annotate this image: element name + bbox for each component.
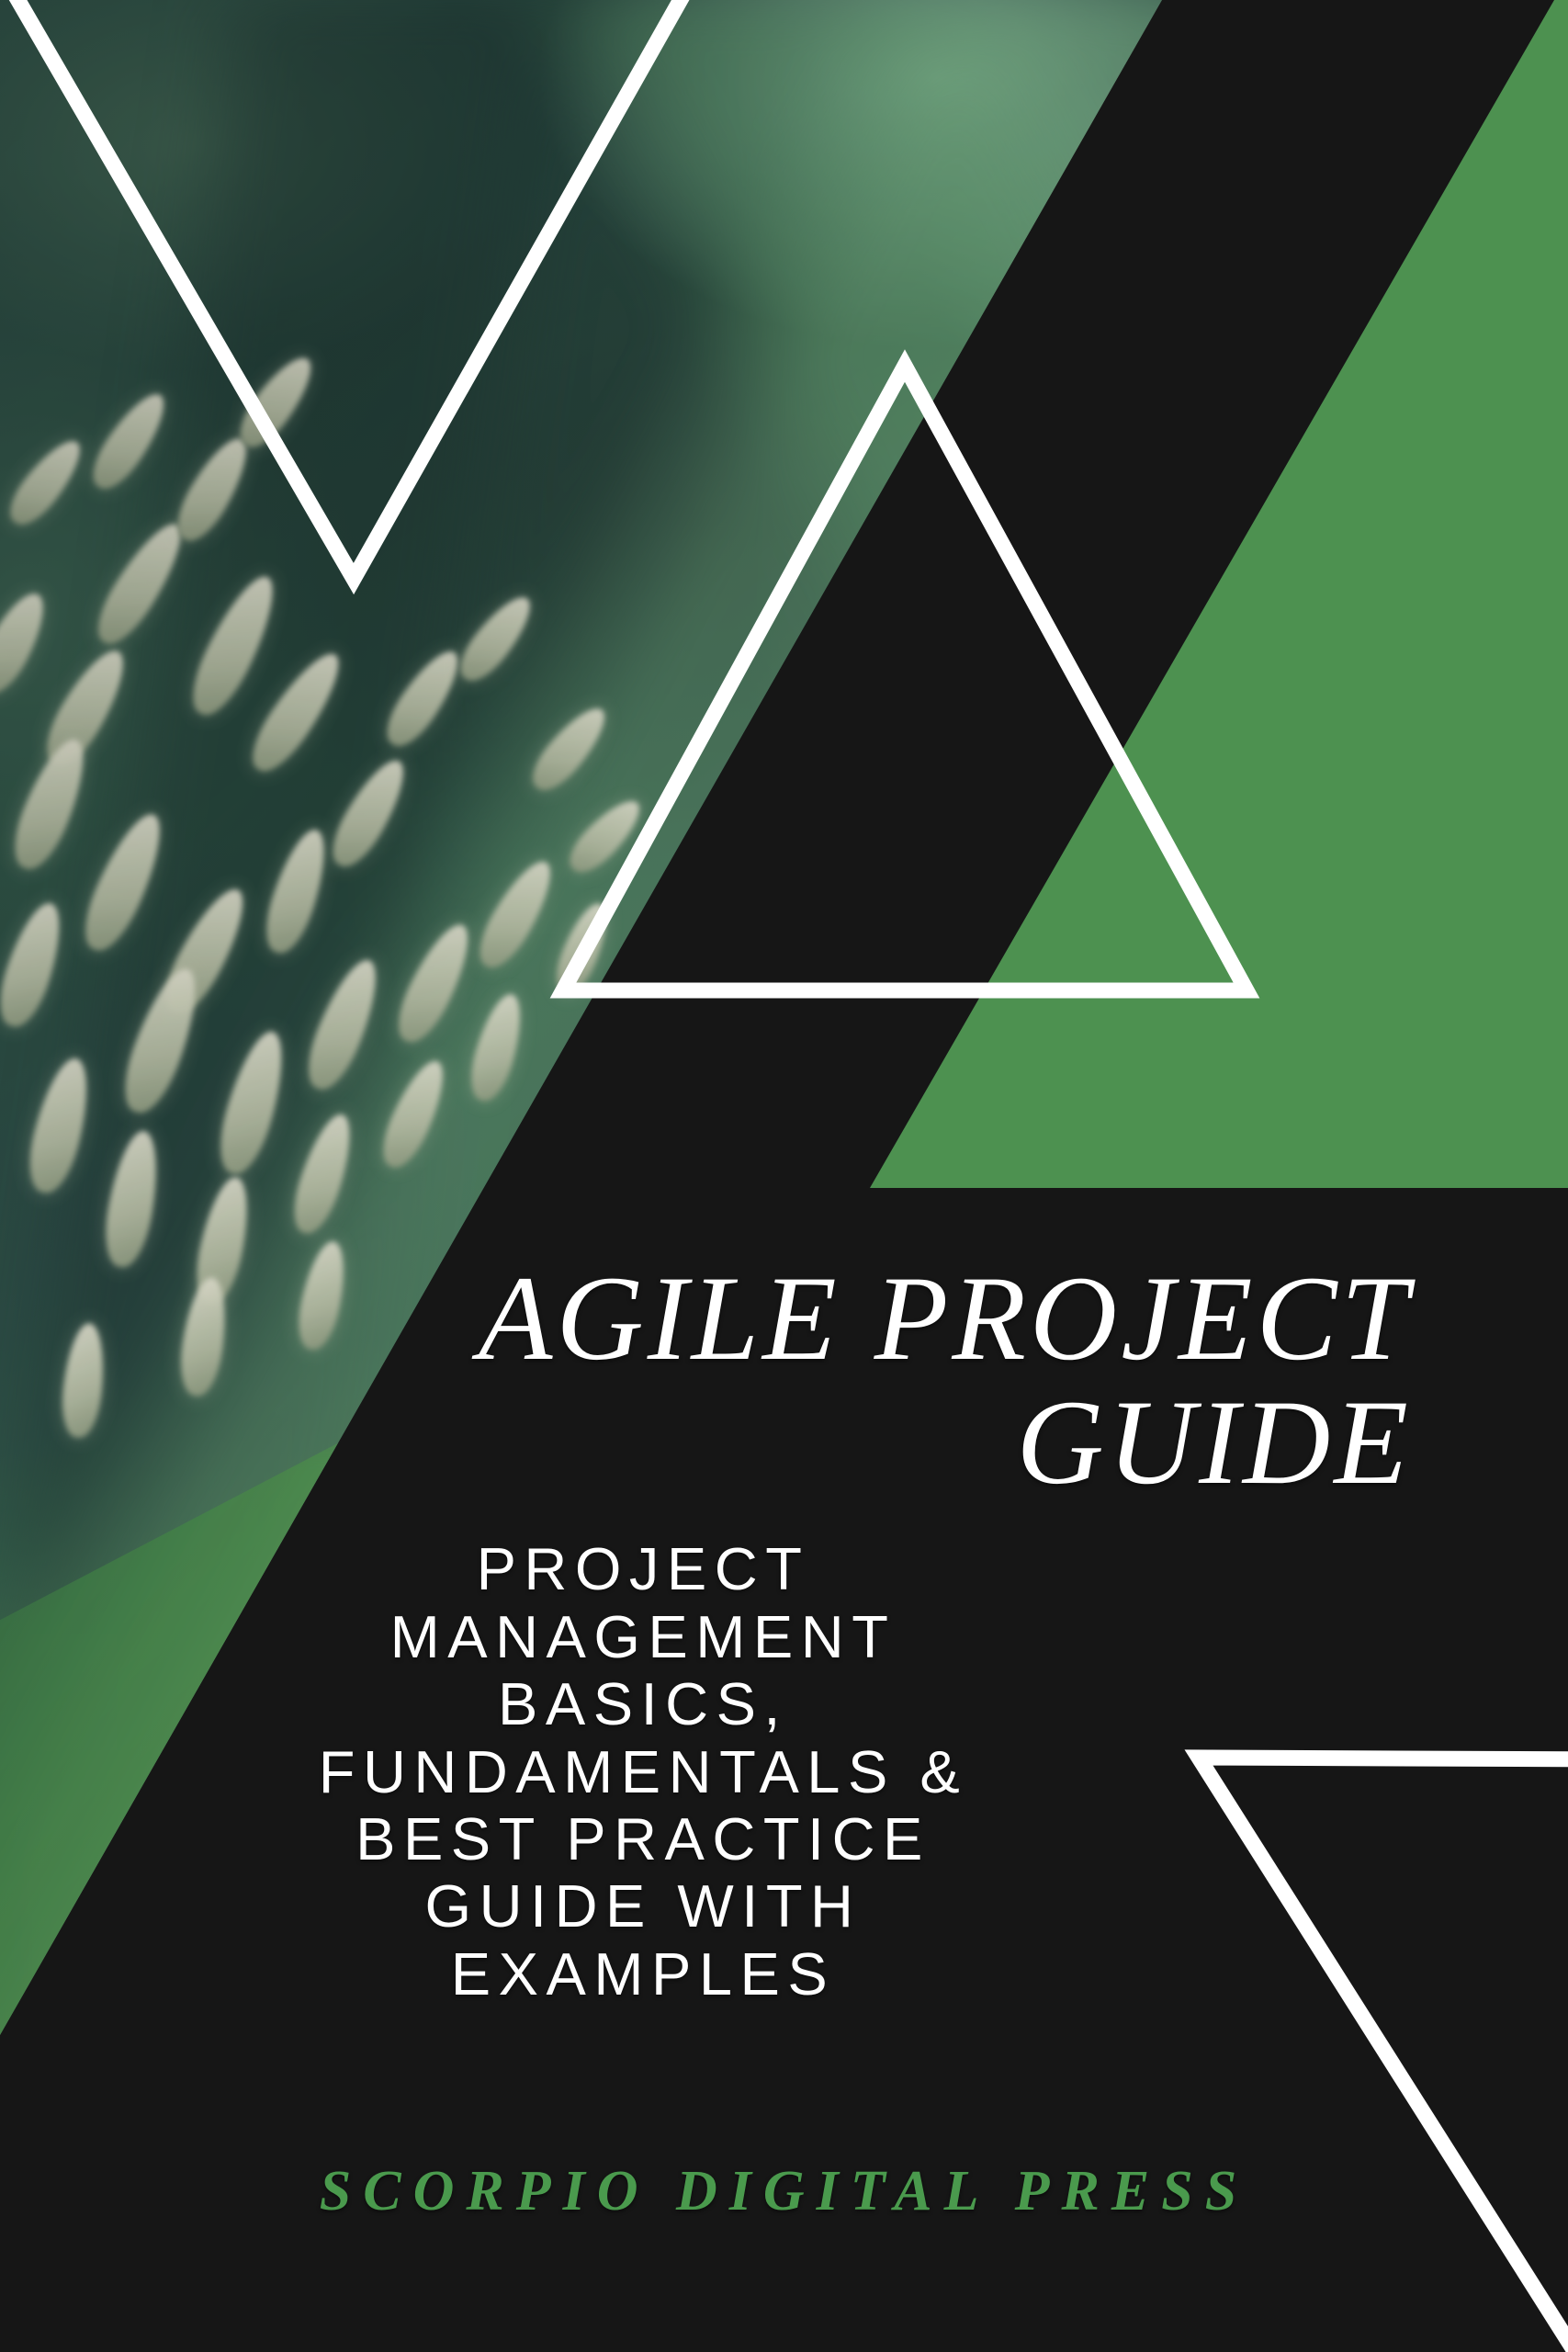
page-title: AGILE PROJECT GUIDE	[386, 1257, 1428, 1504]
book-subtitle: PROJECT MANAGEMENT BASICS, FUNDAMENTALS …	[138, 1535, 1148, 2007]
publisher-name: SCORPIO DIGITAL PRESS	[0, 2159, 1568, 2224]
book-cover: AGILE PROJECT GUIDE PROJECT MANAGEMENT B…	[0, 0, 1568, 2352]
chevron-down-icon	[7, 0, 691, 579]
cover-text-block: AGILE PROJECT GUIDE PROJECT MANAGEMENT B…	[386, 1257, 1428, 2007]
triangle-outline-icon	[563, 366, 1247, 990]
